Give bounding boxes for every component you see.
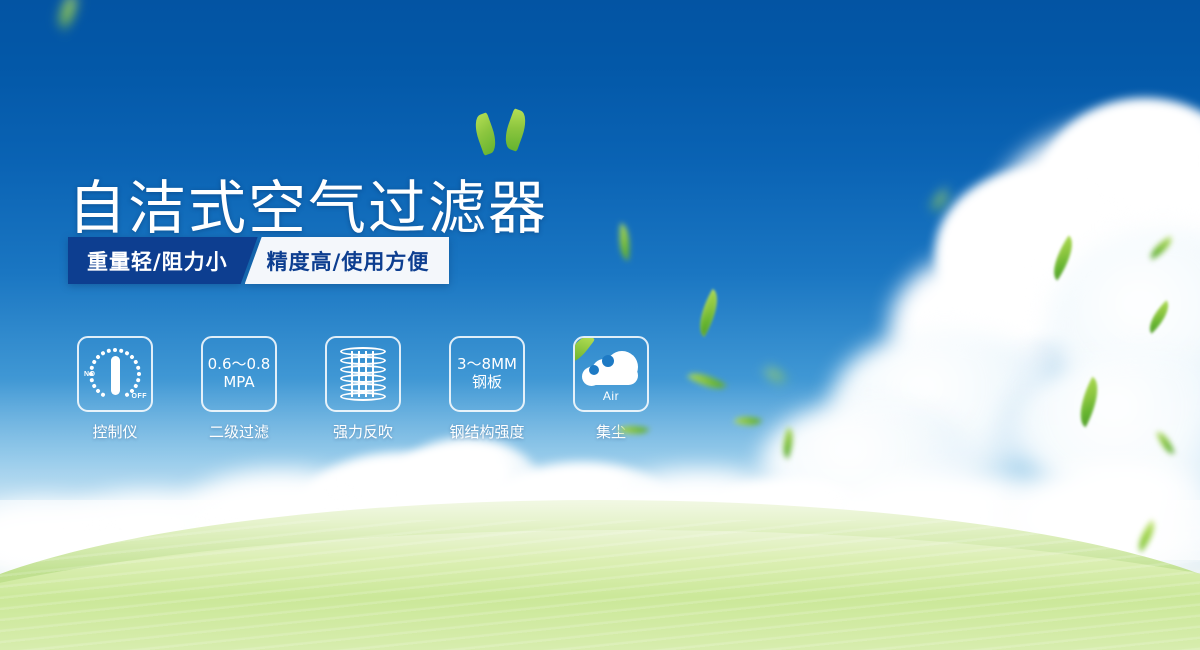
gauge-label-no: NO bbox=[84, 371, 96, 378]
filter-coil-icon bbox=[340, 347, 386, 401]
air-label: Air bbox=[580, 389, 642, 403]
sprout-leaf-right bbox=[501, 108, 531, 151]
feature-icon-box bbox=[325, 336, 401, 412]
feature-label: 强力反吹 bbox=[333, 421, 393, 442]
product-hero-banner: 自洁式空气过滤器 重量轻/阻力小 精度高/使用方便 bbox=[0, 0, 1200, 650]
ribbon-left-text: 重量轻/阻力小 bbox=[68, 237, 258, 284]
cloud-notch bbox=[602, 355, 614, 367]
air-cloud-icon: Air bbox=[580, 345, 642, 403]
page-title: 自洁式空气过滤器 bbox=[68, 179, 548, 237]
feature-list: NO OFF 控制仪 0.6～0.8 MPA 二级过滤 bbox=[77, 336, 649, 442]
floating-leaf bbox=[616, 223, 634, 260]
cloud-notch bbox=[589, 365, 599, 375]
feature-item-two-stage-filter[interactable]: 0.6～0.8 MPA 二级过滤 bbox=[201, 336, 277, 442]
feature-label: 二级过滤 bbox=[209, 421, 269, 442]
steel-line-2: 钢板 bbox=[457, 374, 517, 392]
floating-leaf bbox=[927, 189, 952, 212]
floating-leaf bbox=[764, 363, 786, 386]
feature-item-steel-strength[interactable]: 3～8MM 钢板 钢结构强度 bbox=[449, 336, 525, 442]
feature-icon-box: NO OFF bbox=[77, 336, 153, 412]
floating-leaf bbox=[51, 0, 85, 29]
pressure-line-1: 0.6～0.8 bbox=[208, 356, 271, 374]
floating-leaf bbox=[690, 289, 728, 337]
feature-icon-box: 0.6～0.8 MPA bbox=[201, 336, 277, 412]
gauge-dial-icon: NO OFF bbox=[85, 344, 145, 404]
feature-label: 控制仪 bbox=[92, 421, 137, 442]
grass-texture bbox=[0, 520, 1200, 650]
pressure-line-2: MPA bbox=[208, 374, 271, 392]
feature-label: 钢结构强度 bbox=[449, 421, 524, 442]
grass-field bbox=[0, 450, 1200, 650]
subtitle-ribbon: 重量轻/阻力小 精度高/使用方便 bbox=[68, 237, 449, 284]
sprout-leaves-decoration bbox=[477, 110, 527, 156]
feature-icon-box: 3～8MM 钢板 bbox=[449, 336, 525, 412]
gauge-label-off: OFF bbox=[132, 393, 148, 400]
feature-item-control-gauge[interactable]: NO OFF 控制仪 bbox=[77, 336, 153, 442]
feature-item-strong-blowback[interactable]: 强力反吹 bbox=[325, 336, 401, 442]
steel-plate-text-icon: 3～8MM 钢板 bbox=[457, 356, 517, 391]
floating-leaf bbox=[734, 411, 763, 431]
sprout-leaf-left bbox=[471, 112, 501, 155]
floating-leaf bbox=[687, 365, 727, 397]
feature-icon-box: Air bbox=[573, 336, 649, 412]
pressure-text-icon: 0.6～0.8 MPA bbox=[208, 356, 271, 391]
gauge-needle bbox=[111, 356, 120, 395]
steel-line-1: 3～8MM bbox=[457, 356, 517, 374]
ribbon-right-text: 精度高/使用方便 bbox=[245, 237, 450, 284]
